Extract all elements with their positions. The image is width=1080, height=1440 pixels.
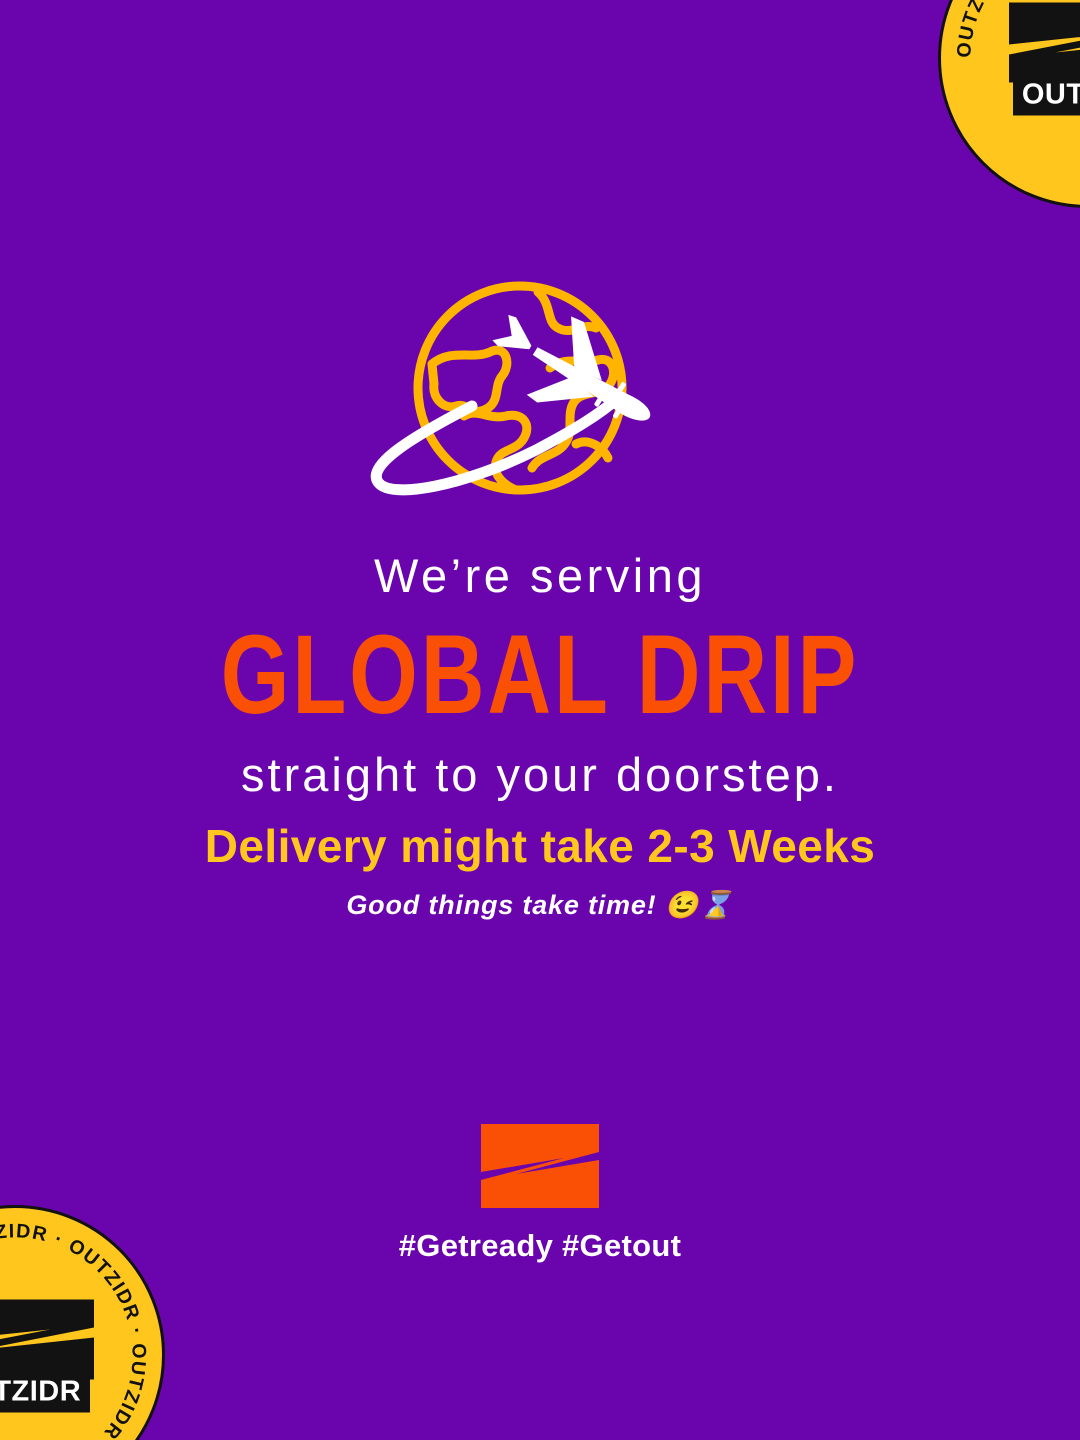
globe-airplane-illustration bbox=[360, 278, 710, 510]
delivery-notice-block: Delivery might take 2-3 Weeks Good thing… bbox=[0, 820, 1080, 921]
copy-line-outro: straight to your doorstep. bbox=[0, 747, 1080, 802]
copy-line-intro: We’re serving bbox=[0, 548, 1080, 603]
delivery-estimate-text: Delivery might take 2-3 Weeks bbox=[0, 820, 1080, 873]
badge-core-top-right: OUTZIDR bbox=[990, 1, 1080, 116]
page-title: GLOBAL DRIP bbox=[22, 619, 1059, 731]
badge-core-bottom-left: OUTZIDR bbox=[0, 1298, 113, 1413]
z-logo-icon bbox=[478, 1122, 602, 1210]
footer-hashtags: #Getready #Getout bbox=[0, 1228, 1080, 1264]
main-copy-block: We’re serving GLOBAL DRIP straight to yo… bbox=[0, 548, 1080, 803]
footer-block: #Getready #Getout bbox=[0, 1122, 1080, 1264]
badge-wordmark-bottom-left: OUTZIDR bbox=[0, 1373, 90, 1413]
brand-badge-top-right: OUTZIDR · OUTZIDR · OUTZIDR · OUTZIDR · … bbox=[938, 0, 1080, 208]
poster-canvas: OUTZIDR · OUTZIDR · OUTZIDR · OUTZIDR · … bbox=[0, 0, 1080, 1440]
badge-wordmark-top-right: OUTZIDR bbox=[1013, 76, 1080, 116]
brand-badge-bottom-left: OUTZIDR · OUTZIDR · OUTZIDR · OUTZIDR · … bbox=[0, 1205, 165, 1440]
z-logo-icon bbox=[0, 1298, 100, 1382]
z-logo-icon bbox=[1003, 1, 1080, 85]
delivery-subtext: Good things take time! 😉⌛ bbox=[0, 889, 1080, 921]
